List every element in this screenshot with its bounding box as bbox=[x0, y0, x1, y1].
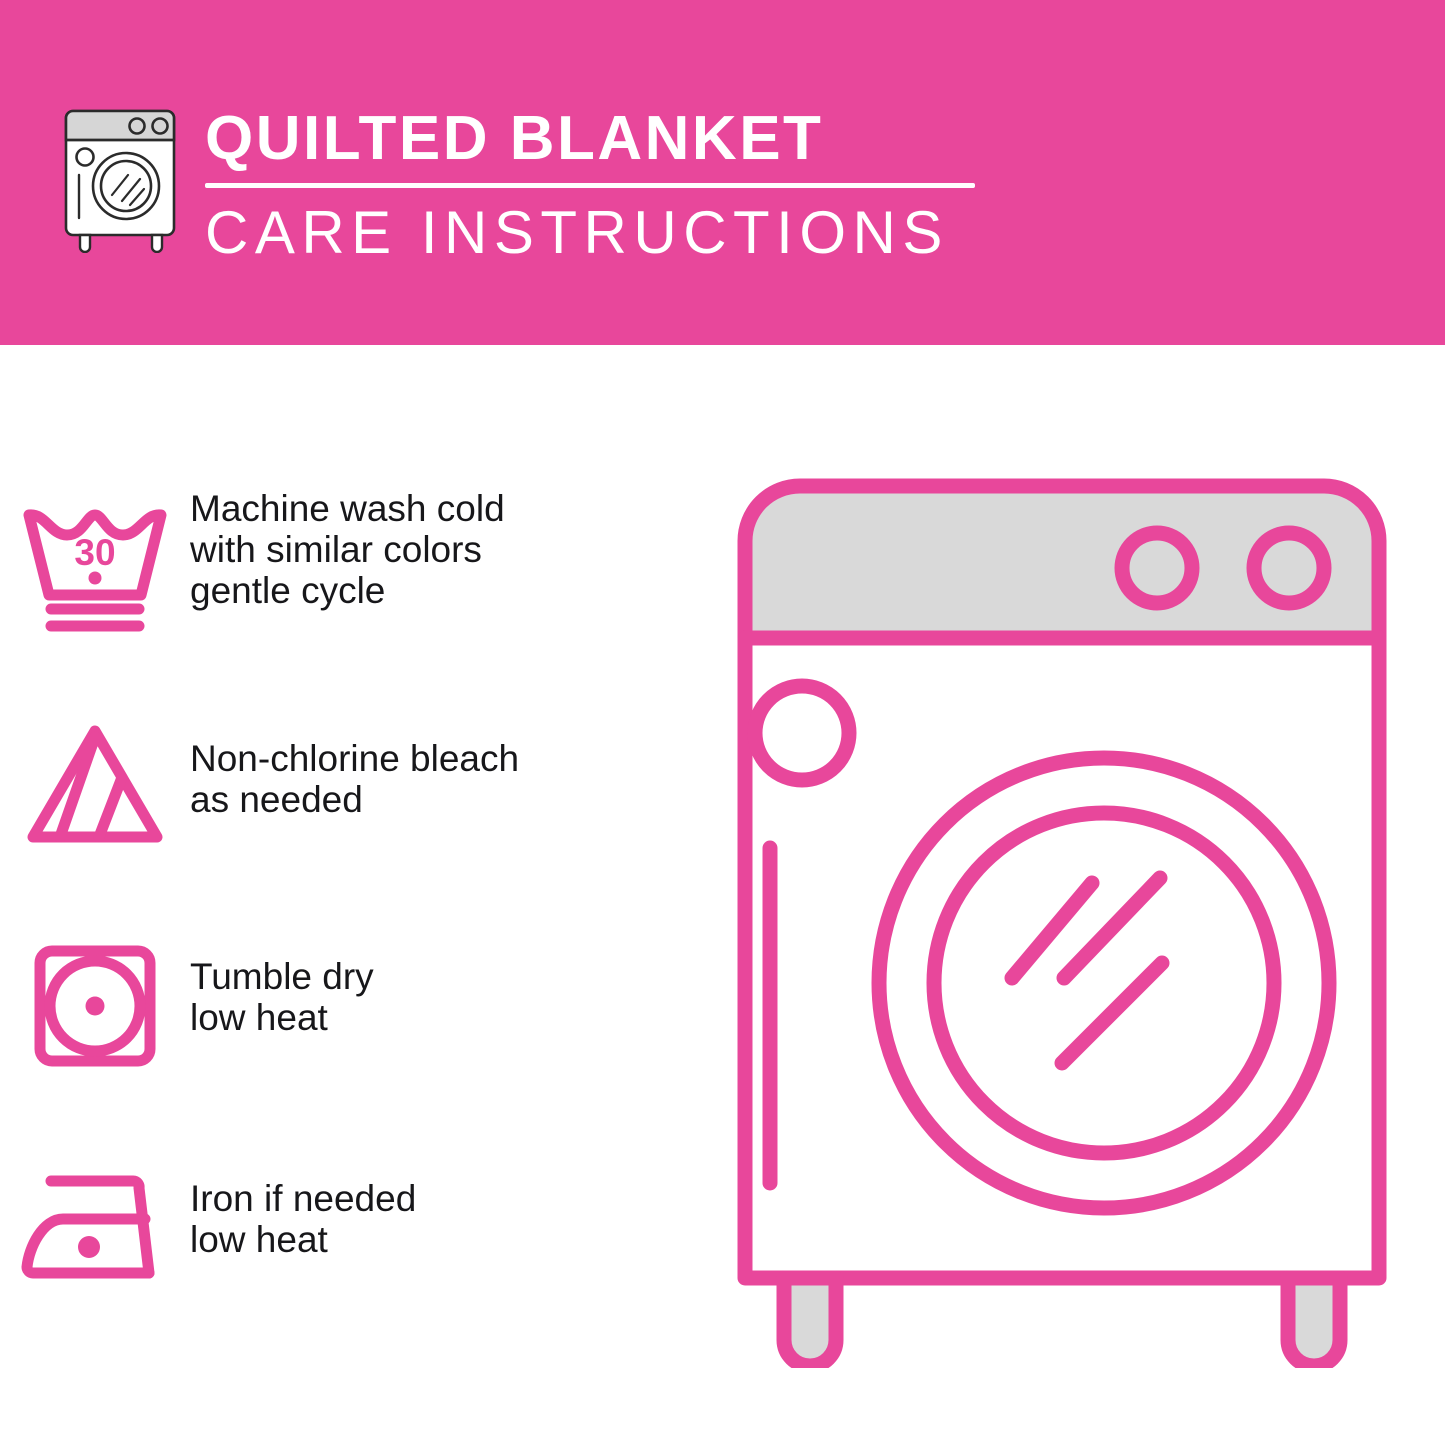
machine-body bbox=[745, 638, 1379, 1278]
leg-right bbox=[1288, 1278, 1340, 1366]
wash-tub-30-gentle-icon: 30 bbox=[0, 470, 190, 660]
title-divider bbox=[205, 183, 975, 188]
page-subtitle: CARE INSTRUCTIONS bbox=[205, 199, 995, 267]
care-text-machine-wash: Machine wash cold with similar colors ge… bbox=[190, 470, 505, 611]
care-row-bleach: Non-chlorine bleach as needed bbox=[0, 690, 700, 910]
leg-left bbox=[784, 1278, 836, 1366]
care-row-machine-wash: 30 Machine wash cold with similar colors… bbox=[0, 470, 700, 690]
care-text-bleach: Non-chlorine bleach as needed bbox=[190, 690, 519, 820]
washing-machine-logo-icon bbox=[58, 103, 186, 253]
page-title: QUILTED BLANKET bbox=[205, 104, 995, 174]
tumble-dry-low-icon bbox=[0, 910, 190, 1100]
care-row-iron: Iron if needed low heat bbox=[0, 1130, 700, 1350]
wash-temperature-label: 30 bbox=[74, 532, 115, 573]
care-text-iron: Iron if needed low heat bbox=[190, 1130, 416, 1260]
non-chlorine-bleach-triangle-icon bbox=[0, 690, 190, 880]
care-text-tumble-dry: Tumble dry low heat bbox=[190, 910, 374, 1038]
care-instruction-list: 30 Machine wash cold with similar colors… bbox=[0, 470, 700, 1350]
control-panel bbox=[745, 486, 1379, 638]
iron-low-heat-icon bbox=[0, 1130, 190, 1320]
front-load-washing-machine-illustration bbox=[712, 478, 1412, 1368]
header-title-group: QUILTED BLANKET CARE INSTRUCTIONS bbox=[205, 104, 995, 267]
care-instructions-infographic: QUILTED BLANKET CARE INSTRUCTIONS 30 bbox=[0, 0, 1445, 1445]
header-banner: QUILTED BLANKET CARE INSTRUCTIONS bbox=[0, 0, 1445, 345]
care-row-tumble-dry: Tumble dry low heat bbox=[0, 910, 700, 1130]
